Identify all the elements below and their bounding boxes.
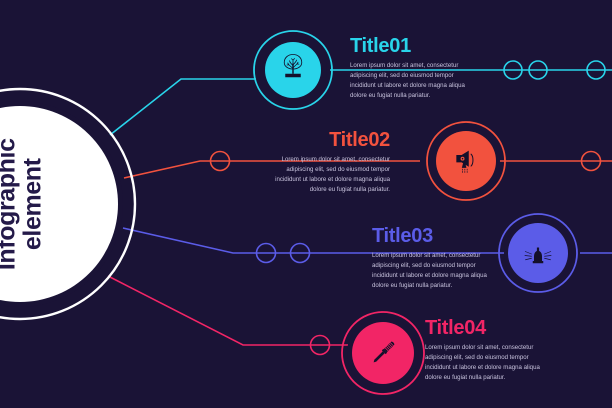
body-text-3: Lorem ipsum dolor sit amet, consectetur … (372, 251, 500, 290)
content-block-1: Title01 Lorem ipsum dolor sit amet, cons… (350, 36, 478, 100)
body-text-2: Lorem ipsum dolor sit amet, consectetur … (262, 155, 390, 194)
body-text-1: Lorem ipsum dolor sit amet, consectetur … (350, 61, 478, 100)
content-block-4: Title04 Lorem ipsum dolor sit amet, cons… (425, 318, 553, 382)
title-3: Title03 (372, 226, 500, 246)
title-4: Title04 (425, 318, 553, 338)
hub-fill (0, 106, 118, 302)
content-block-3: Title03 Lorem ipsum dolor sit amet, cons… (372, 226, 500, 290)
title-2: Title02 (160, 130, 390, 150)
body-text-4: Lorem ipsum dolor sit amet, consectetur … (425, 343, 553, 382)
title-1: Title01 (350, 36, 478, 56)
content-block-2: Title02 Lorem ipsum dolor sit amet, cons… (160, 130, 390, 194)
infographic-canvas: Infographic element Title01 Lorem ipsum … (0, 0, 612, 408)
